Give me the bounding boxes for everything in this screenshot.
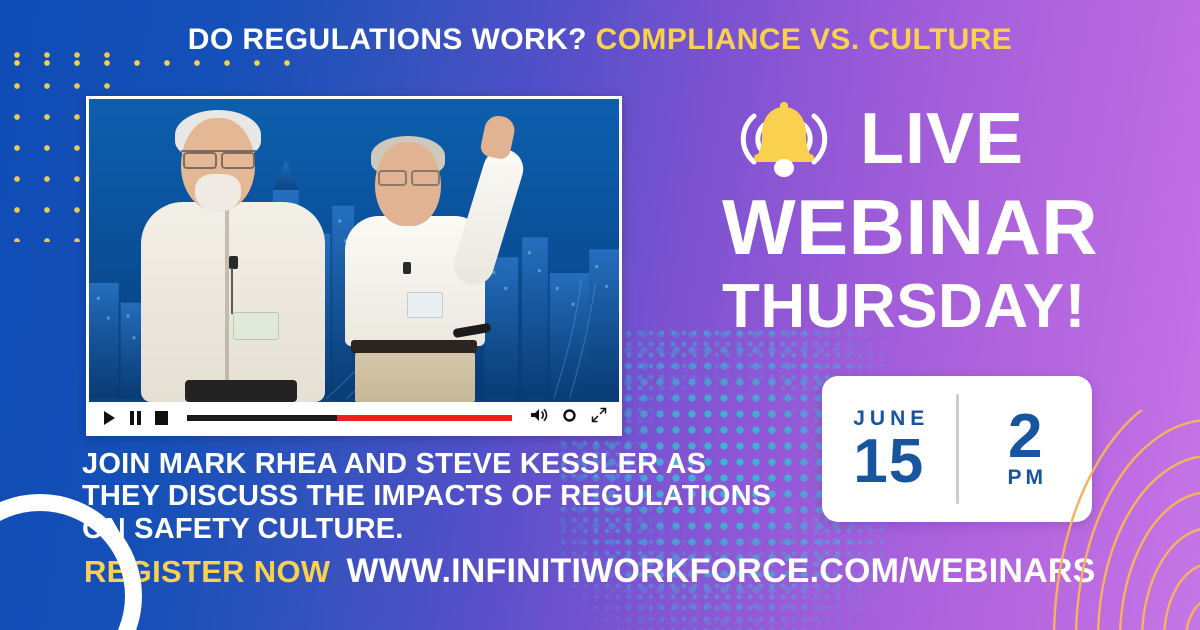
presenter-right (345, 112, 581, 402)
event-day: 15 (853, 433, 924, 492)
stop-icon[interactable] (153, 410, 169, 426)
presenter-left-badge (233, 312, 279, 340)
presenter-left-glasses (181, 150, 257, 165)
presenter-left-shirt (141, 202, 325, 402)
video-player[interactable] (86, 96, 622, 436)
event-hour: 2 (1008, 408, 1042, 467)
event-date-card: JUNE 15 2 PM (822, 376, 1092, 522)
event-time-block: 2 PM (959, 376, 1093, 522)
event-description: JOIN MARK RHEA AND STEVE KESSLER AS THEY… (82, 448, 812, 545)
day-label: THURSDAY! (722, 278, 1086, 337)
presenter-right-belt (351, 340, 477, 353)
event-date-block: JUNE 15 (822, 376, 956, 522)
headline-subject: COMPLIANCE VS. CULTURE (596, 23, 1013, 56)
live-label: LIVE (860, 106, 1024, 172)
presenter-right-badge (407, 292, 443, 318)
live-headline-row: LIVE (724, 96, 1024, 182)
webinar-promo-poster: DO REGULATIONS WORK? COMPLIANCE VS. CULT… (0, 0, 1200, 630)
progress-remaining (337, 415, 513, 421)
fullscreen-icon[interactable] (591, 407, 607, 428)
presenter-left (133, 106, 333, 402)
video-thumbnail[interactable] (89, 99, 619, 402)
play-icon[interactable] (101, 410, 117, 426)
yellow-dot-row-top (14, 60, 299, 72)
progress-bar[interactable] (187, 415, 512, 421)
presenter-left-placket (225, 206, 229, 396)
description-line-1: JOIN MARK RHEA AND STEVE KESSLER AS (82, 448, 812, 480)
description-line-2: THEY DISCUSS THE IMPACTS OF REGULATIONS (82, 480, 812, 512)
presenter-right-mic (403, 262, 411, 274)
webinar-label: WEBINAR (722, 192, 1098, 264)
event-ampm: PM (1004, 466, 1048, 490)
presenter-right-pants (355, 350, 475, 402)
presenter-left-beard (195, 174, 241, 212)
presenter-left-lanyard (231, 268, 233, 314)
video-controls-bar[interactable] (89, 402, 619, 433)
presenter-left-base (185, 380, 297, 402)
pause-icon[interactable] (127, 410, 143, 426)
presenter-right-glasses (377, 170, 441, 182)
page-title: DO REGULATIONS WORK? COMPLIANCE VS. CULT… (0, 24, 1200, 56)
progress-played (187, 415, 337, 421)
bell-ringing-icon (724, 96, 844, 182)
headline-question: DO REGULATIONS WORK? (188, 23, 587, 56)
cta-row[interactable]: REGISTER NOW WWW.INFINITIWORKFORCE.COM/W… (84, 552, 1096, 591)
description-line-3: ON SAFETY CULTURE. (82, 513, 812, 545)
settings-gear-icon[interactable] (562, 408, 577, 428)
register-url[interactable]: WWW.INFINITIWORKFORCE.COM/WEBINARS (346, 552, 1095, 591)
volume-icon[interactable] (530, 407, 548, 428)
